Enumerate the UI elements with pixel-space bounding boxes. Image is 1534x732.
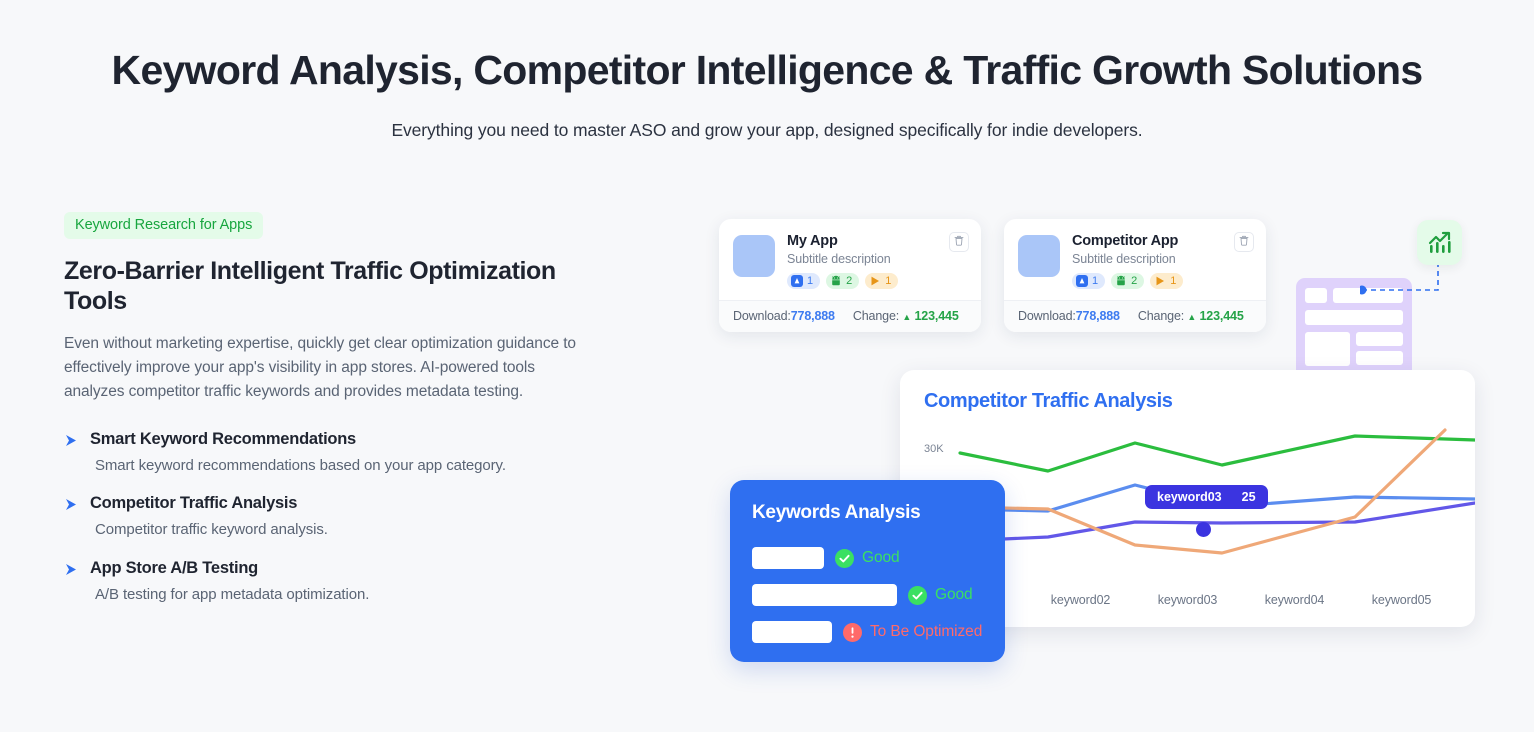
trending-bar-chart-icon xyxy=(1417,220,1462,265)
app-name: My App xyxy=(787,233,967,249)
feature-title: Competitor Traffic Analysis xyxy=(90,494,297,513)
page-subtitle: Everything you need to master ASO and gr… xyxy=(0,120,1534,141)
alert-circle-icon xyxy=(843,623,862,642)
feature-description: A/B testing for app metadata optimizatio… xyxy=(95,584,565,607)
keyword-bar-placeholder xyxy=(752,547,824,569)
badge-count: 1 xyxy=(1170,275,1176,287)
feature-list: Smart Keyword Recommendations Smart keyw… xyxy=(64,430,594,607)
mock-block xyxy=(1305,288,1327,303)
feature-item: App Store A/B Testing A/B testing for ap… xyxy=(64,559,594,607)
feature-description: Smart keyword recommendations based on y… xyxy=(95,455,565,478)
feature-heading-row: Smart Keyword Recommendations xyxy=(64,430,594,449)
download-stat: Download:778,888 xyxy=(733,309,835,323)
platform-badges: 1 2 1 xyxy=(1072,273,1252,289)
badge-play-store: 1 xyxy=(865,273,898,289)
download-value: 778,888 xyxy=(1076,309,1120,323)
app-subtitle: Subtitle description xyxy=(787,252,967,266)
badge-count: 2 xyxy=(846,275,852,287)
section-description: Even without marketing expertise, quickl… xyxy=(64,332,586,404)
badge-android: 2 xyxy=(1111,273,1144,289)
change-label: Change: xyxy=(853,309,899,323)
keywords-analysis-title: Keywords Analysis xyxy=(752,502,983,524)
feature-section-page: Keyword Analysis, Competitor Intelligenc… xyxy=(0,0,1534,732)
feature-title: Smart Keyword Recommendations xyxy=(90,430,356,449)
mock-block xyxy=(1356,332,1403,346)
app-card-competitor-app[interactable]: Competitor App Subtitle description 1 xyxy=(1004,219,1266,332)
download-label: Download: xyxy=(1018,309,1076,323)
keyword-status-text: Good xyxy=(862,549,900,567)
category-pill: Keyword Research for Apps xyxy=(64,212,263,239)
keyword-status-text: To Be Optimized xyxy=(870,623,982,641)
download-label: Download: xyxy=(733,309,791,323)
app-card-my-app[interactable]: My App Subtitle description 1 xyxy=(719,219,981,332)
app-meta: My App Subtitle description 1 xyxy=(787,233,967,289)
hero-header: Keyword Analysis, Competitor Intelligenc… xyxy=(0,46,1534,141)
product-illustration-stage: Competitor Traffic Analysis 30K keyword0… xyxy=(700,200,1520,700)
app-name: Competitor App xyxy=(1072,233,1252,249)
section-title: Zero-Barrier Intelligent Traffic Optimiz… xyxy=(64,256,579,316)
app-card-body: Competitor App Subtitle description 1 xyxy=(1004,219,1266,300)
mock-row xyxy=(1305,332,1403,366)
feature-description: Competitor traffic keyword analysis. xyxy=(95,519,565,542)
keyword-row: To Be Optimized xyxy=(752,621,983,643)
change-label: Change: xyxy=(1138,309,1184,323)
keywords-analysis-rows: Good Good xyxy=(752,547,983,643)
badge-android: 2 xyxy=(826,273,859,289)
chart-title: Competitor Traffic Analysis xyxy=(924,390,1173,413)
app-icon-placeholder xyxy=(1018,235,1060,277)
feature-title: App Store A/B Testing xyxy=(90,559,258,578)
keyword-status-text: Good xyxy=(935,586,973,604)
feature-heading-row: Competitor Traffic Analysis xyxy=(64,494,594,513)
app-card-footer: Download:778,888 Change: ▲ 123,445 xyxy=(719,300,981,332)
delete-app-button[interactable] xyxy=(1234,232,1254,252)
app-icon-placeholder xyxy=(733,235,775,277)
app-store-icon xyxy=(791,275,803,287)
badge-play-store: 1 xyxy=(1150,273,1183,289)
keyword-status: To Be Optimized xyxy=(843,623,982,642)
mock-col xyxy=(1356,332,1403,366)
chart-series-green xyxy=(960,436,1475,471)
keyword-bar-placeholder xyxy=(752,584,897,606)
change-value: 123,445 xyxy=(915,309,959,323)
keyword-row: Good xyxy=(752,584,983,606)
download-stat: Download:778,888 xyxy=(1018,309,1120,323)
trash-icon xyxy=(1239,233,1249,251)
x-tick-label: keyword02 xyxy=(1027,593,1134,607)
badge-count: 1 xyxy=(885,275,891,287)
check-circle-icon xyxy=(835,549,854,568)
check-circle-icon xyxy=(908,586,927,605)
feature-item: Smart Keyword Recommendations Smart keyw… xyxy=(64,430,594,478)
arrow-right-icon xyxy=(64,498,79,511)
badge-app-store: 1 xyxy=(787,273,820,289)
delete-app-button[interactable] xyxy=(949,232,969,252)
x-tick-label: keyword04 xyxy=(1241,593,1348,607)
app-card-body: My App Subtitle description 1 xyxy=(719,219,981,300)
badge-count: 1 xyxy=(807,275,813,287)
play-store-icon xyxy=(869,275,881,287)
download-value: 778,888 xyxy=(791,309,835,323)
tooltip-label: keyword03 xyxy=(1157,490,1222,504)
keyword-row: Good xyxy=(752,547,983,569)
page-title: Keyword Analysis, Competitor Intelligenc… xyxy=(0,46,1534,94)
keyword-bar-placeholder xyxy=(752,621,832,643)
mock-block xyxy=(1305,332,1350,366)
tooltip-value: 25 xyxy=(1242,490,1256,504)
app-meta: Competitor App Subtitle description 1 xyxy=(1072,233,1252,289)
feature-item: Competitor Traffic Analysis Competitor t… xyxy=(64,494,594,542)
caret-up-icon: ▲ xyxy=(902,312,911,322)
change-value: 123,445 xyxy=(1200,309,1244,323)
x-tick-label: keyword05 xyxy=(1348,593,1455,607)
android-icon xyxy=(830,275,842,287)
keywords-analysis-panel: Keywords Analysis Good xyxy=(730,480,1005,662)
app-subtitle: Subtitle description xyxy=(1072,252,1252,266)
badge-app-store: 1 xyxy=(1072,273,1105,289)
keyword-status: Good xyxy=(908,586,973,605)
trash-icon xyxy=(954,233,964,251)
android-icon xyxy=(1115,275,1127,287)
change-stat: Change: ▲ 123,445 xyxy=(1138,309,1244,323)
chart-tooltip: keyword03 25 xyxy=(1145,485,1268,509)
badge-count: 1 xyxy=(1092,275,1098,287)
feature-text-column: Keyword Research for Apps Zero-Barrier I… xyxy=(64,212,594,623)
app-store-icon xyxy=(1076,275,1088,287)
chart-active-point xyxy=(1196,522,1211,537)
change-stat: Change: ▲ 123,445 xyxy=(853,309,959,323)
badge-count: 2 xyxy=(1131,275,1137,287)
caret-up-icon: ▲ xyxy=(1187,312,1196,322)
x-tick-label: keyword03 xyxy=(1134,593,1241,607)
play-store-icon xyxy=(1154,275,1166,287)
arrow-right-icon xyxy=(64,434,79,447)
mock-block xyxy=(1356,351,1403,365)
arrow-right-icon xyxy=(64,563,79,576)
mock-block xyxy=(1305,310,1403,325)
app-card-footer: Download:778,888 Change: ▲ 123,445 xyxy=(1004,300,1266,332)
feature-heading-row: App Store A/B Testing xyxy=(64,559,594,578)
keyword-status: Good xyxy=(835,549,900,568)
platform-badges: 1 2 1 xyxy=(787,273,967,289)
